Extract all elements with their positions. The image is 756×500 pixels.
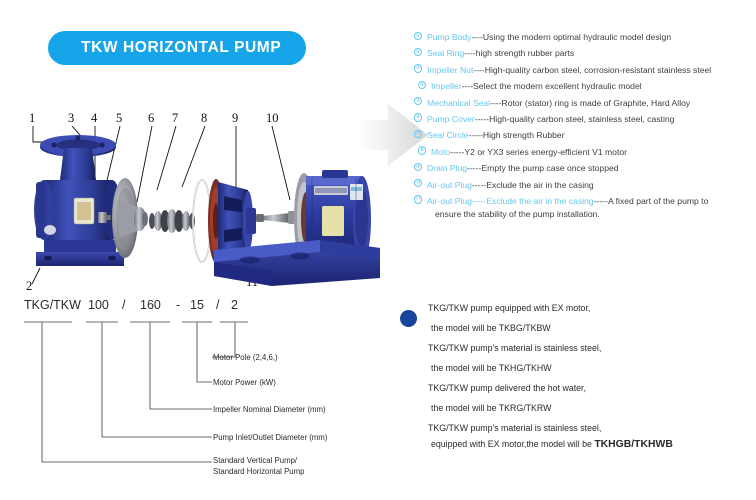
legend-part-desc: Using the modern optimal hydraulic model… (483, 32, 671, 43)
legend-number-badge: ④ (418, 82, 429, 91)
callout-6: 6 (148, 111, 154, 125)
legend-part-name: Pump Cover (427, 114, 475, 125)
legend-part-desc: Y2 or YX3 series energy-efficient V1 mot… (464, 147, 627, 158)
naming-label-motor-pole: Motor Pole (2,4,6,) (213, 353, 278, 364)
legend-number-badge: ⑤ (414, 98, 425, 107)
legend-part-name: Pump Body (427, 32, 471, 43)
product-spec-page: TKW HORIZONTAL PUMP (0, 0, 756, 500)
legend-dash: ----- (469, 130, 483, 141)
legend-dash: ---- (471, 32, 482, 43)
legend-dash: ----- (467, 163, 481, 174)
legend-dash: ---- (462, 81, 473, 92)
pump-body-part (34, 135, 124, 266)
legend-part-desc-line2: ensure the stability of the pump install… (414, 209, 750, 220)
note-line: the model will be TKRG/TKRW (398, 403, 750, 414)
callout-5: 5 (116, 111, 122, 125)
note-final-prefix: equipped with EX motor,the model will be (431, 439, 594, 449)
legend-number-badge: ① (414, 33, 425, 42)
legend-part-name: Seal Ring (427, 48, 464, 59)
legend-number-badge: ② (414, 49, 425, 58)
legend-number-badge: ⑦ (414, 131, 425, 140)
note-line: TKG/TKW pump's material is stainless ste… (398, 343, 750, 354)
legend-item: ⑨ Drain Plug ----- Empty the pump case o… (414, 163, 750, 174)
legend-part-desc: Empty the pump case once stopped (481, 163, 618, 174)
legend-item: ④ Impeller ---- Select the modern excell… (414, 81, 750, 92)
callout-2: 2 (26, 279, 32, 290)
note-line: TKG/TKW pump's material is stainless ste… (398, 423, 750, 434)
legend-number-badge: ⑪ (414, 196, 425, 205)
naming-label-standard-horizontal: Standard Horizontal Pump (213, 467, 304, 478)
model-variant-notes: TKG/TKW pump equipped with EX motor, the… (398, 303, 750, 459)
legend-part-desc: Select the modern excellent hydraulic mo… (473, 81, 642, 92)
legend-number-badge: ⑧ (418, 147, 429, 156)
exploded-assembly-diagram: 1 3 4 5 6 7 8 9 10 2 11 (0, 90, 380, 290)
legend-part-name: Impeller (431, 81, 462, 92)
callout-4: 4 (91, 111, 98, 125)
legend-part-desc: High strength Rubber (483, 130, 565, 141)
legend-part-name: Air-out Plug (427, 180, 472, 191)
legend-item: ① Pump Body ---- Using the modern optima… (414, 32, 750, 43)
naming-label-motor-power: Motor Power (kW) (213, 378, 276, 389)
callout-10: 10 (266, 111, 279, 125)
legend-dash: ---- (473, 65, 484, 76)
legend-number-badge: ⑩ (414, 180, 425, 189)
page-title-banner: TKW HORIZONTAL PUMP (48, 31, 306, 65)
legend-number-badge: ⑨ (414, 164, 425, 173)
legend-part-desc: Rotor (stator) ring is made of Graphite,… (502, 98, 691, 109)
note-final-model: TKHGB/TKHWB (594, 439, 673, 450)
page-title: TKW HORIZONTAL PUMP (48, 39, 281, 57)
note-line: the model will be TKBG/TKBW (398, 323, 750, 334)
legend-item: ⑥ Pump Cover ----- High-quality carbon s… (414, 114, 750, 125)
legend-part-name: Seal Circle (427, 130, 469, 141)
legend-part-desc: high strength rubber parts (476, 48, 574, 59)
legend-item: ⑧ Moto ----- Y2 or YX3 series energy-eff… (414, 147, 750, 158)
note-line-final: equipped with EX motor,the model will be… (398, 439, 750, 450)
legend-part-desc: High-quality carbon steel, corrosion-res… (485, 65, 711, 76)
mechanical-seal-stack-part (149, 209, 195, 233)
legend-item: ⑩ Air-out Plug ----- Exclude the air in … (414, 180, 750, 191)
note-line: TKG/TKW pump delivered the hot water, (398, 383, 750, 394)
naming-label-inlet-outlet-diameter: Pump Inlet/Outlet Diameter (mm) (213, 433, 327, 444)
legend-dash: ----- (472, 196, 486, 207)
bullet-dot-icon (400, 310, 417, 327)
legend-part-name: Air-out Plug (427, 196, 472, 207)
callout-3: 3 (68, 111, 74, 125)
legend-dash: ---- (490, 98, 501, 109)
callout-8: 8 (201, 111, 207, 125)
legend-part-desc-tail: -----A fixed part of the pump to (594, 196, 709, 207)
callout-7: 7 (172, 111, 178, 125)
legend-number-badge: ⑥ (414, 114, 425, 123)
naming-label-standard-vertical: Standard Vertical Pump/ (213, 456, 297, 467)
legend-item: ③ Impeller Nut ---- High-quality carbon … (414, 65, 750, 76)
legend-number-badge: ③ (414, 65, 425, 74)
callout-9: 9 (232, 111, 238, 125)
note-line: TKG/TKW pump equipped with EX motor, (398, 303, 750, 314)
legend-item: ⑤ Mechanical Seal ---- Rotor (stator) ri… (414, 98, 750, 109)
legend-part-name: Impeller Nut (427, 65, 473, 76)
naming-label-impeller-diameter: Impeller Nominal Diameter (mm) (213, 405, 326, 416)
legend-part-name: Drain Plug (427, 163, 467, 174)
legend-part-desc: High-quality carbon steel, stainless ste… (489, 114, 674, 125)
legend-dash: ----- (475, 114, 489, 125)
legend-dash: ----- (472, 180, 486, 191)
legend-item: ⑦ Seal Circle ----- High strength Rubber (414, 130, 750, 141)
parts-legend-list: ① Pump Body ---- Using the modern optima… (414, 32, 750, 225)
impeller-part (112, 178, 148, 258)
legend-item-last: ⑪ Air-out Plug ----- Exclude the air in … (414, 196, 750, 207)
legend-part-desc-blue: Exclude the air in the casing (486, 196, 594, 207)
legend-item: ② Seal Ring ---- high strength rubber pa… (414, 48, 750, 59)
callout-1: 1 (29, 111, 35, 125)
legend-dash: ----- (450, 147, 464, 158)
exploded-assembly-svg: 1 3 4 5 6 7 8 9 10 2 11 (0, 90, 380, 290)
legend-dash: ---- (464, 48, 475, 59)
note-line: the model will be TKHG/TKHW (398, 363, 750, 374)
naming-leader-lines (0, 296, 392, 496)
legend-part-name: Moto (431, 147, 450, 158)
legend-part-name: Mechanical Seal (427, 98, 490, 109)
legend-part-desc: Exclude the air in the casing (486, 180, 594, 191)
model-naming-diagram: TKG/TKW 100 / 160 - 15 / 2 (0, 296, 392, 496)
